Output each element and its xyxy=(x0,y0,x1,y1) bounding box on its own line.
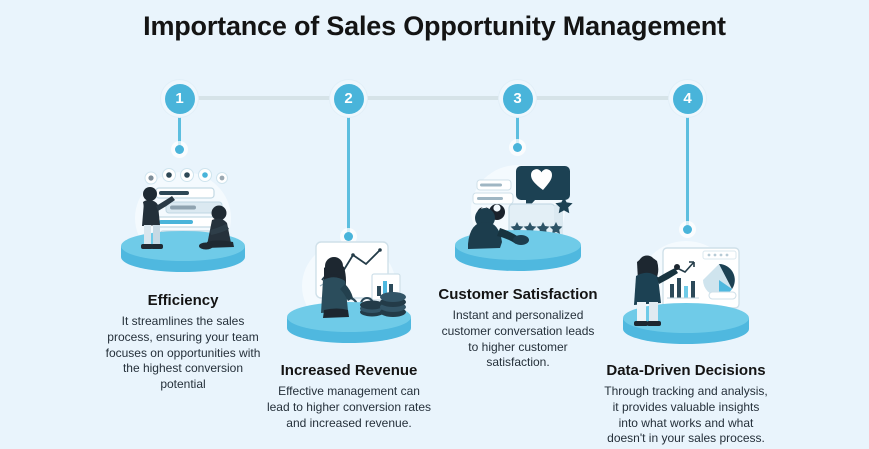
step-3-number: 3 xyxy=(503,84,533,114)
timeline-step-2[interactable]: 2 xyxy=(330,80,367,117)
customer-satisfaction-illustration xyxy=(423,152,613,280)
data-driven-decisions-illustration xyxy=(591,228,781,356)
page-title: Importance of Sales Opportunity Manageme… xyxy=(0,11,869,42)
timeline-step-1[interactable]: 1 xyxy=(161,80,198,117)
card-1-body: It streamlines the sales process, ensuri… xyxy=(88,314,278,393)
card-4-body: Through tracking and analysis, it provid… xyxy=(591,384,781,447)
step-1-number: 1 xyxy=(165,84,195,114)
card-customer-satisfaction: Customer Satisfaction Instant and person… xyxy=(423,152,613,371)
infographic-canvas: Importance of Sales Opportunity Manageme… xyxy=(0,0,869,449)
timeline-step-3[interactable]: 3 xyxy=(499,80,536,117)
increased-revenue-illustration xyxy=(254,228,444,356)
step-3-stem-dot xyxy=(513,143,522,152)
card-3-body: Instant and personalized customer conver… xyxy=(423,308,613,371)
timeline-step-4[interactable]: 4 xyxy=(669,80,706,117)
efficiency-illustration xyxy=(88,158,278,286)
step-4-number: 4 xyxy=(673,84,703,114)
timeline-track xyxy=(179,96,687,100)
card-4-heading: Data-Driven Decisions xyxy=(591,362,781,379)
card-2-heading: Increased Revenue xyxy=(254,362,444,379)
card-data-driven-decisions: Data-Driven Decisions Through tracking a… xyxy=(591,228,781,447)
card-3-heading: Customer Satisfaction xyxy=(423,286,613,303)
step-2-stem xyxy=(347,110,350,235)
step-4-stem xyxy=(686,110,689,228)
step-2-number: 2 xyxy=(334,84,364,114)
card-1-heading: Efficiency xyxy=(88,292,278,309)
card-2-body: Effective management can lead to higher … xyxy=(254,384,444,431)
card-increased-revenue: Increased Revenue Effective management c… xyxy=(254,228,444,431)
card-efficiency: Efficiency It streamlines the sales proc… xyxy=(88,158,278,393)
step-1-stem-dot xyxy=(175,145,184,154)
